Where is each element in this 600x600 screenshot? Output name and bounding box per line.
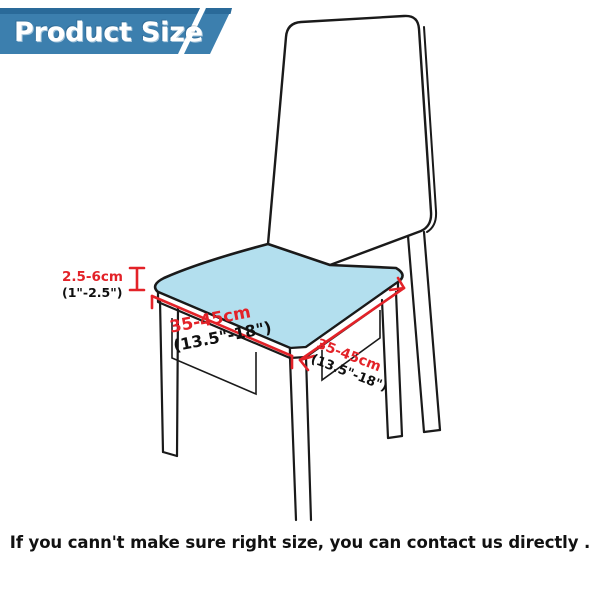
leg-rear-right-line-a (424, 232, 440, 430)
thickness-i-bar (130, 268, 144, 290)
thickness-value-cm: 2.5-6cm (62, 270, 123, 286)
dimension-label-thickness: 2.5-6cm (1"-2.5") (62, 270, 123, 301)
product-size-infographic: Product Size (0, 0, 600, 600)
footer-caption: If you cann't make sure right size, you … (0, 533, 600, 552)
chair-back (268, 16, 436, 265)
chair-back-panel (268, 16, 431, 265)
dimension-thickness-marker (130, 268, 144, 290)
chair-illustration (0, 0, 600, 530)
chair-leg-front-center (290, 357, 311, 520)
leg-front-right-line-a (396, 292, 402, 436)
leg-rear-right-line-b (408, 236, 424, 432)
chair-leg-rear-right (408, 232, 440, 432)
thickness-value-inch: (1"-2.5") (62, 286, 123, 301)
leg-front-center-line-a (290, 358, 296, 520)
leg-front-center-line-b (306, 357, 311, 520)
leg-rear-right-foot (424, 430, 440, 432)
leg-front-left-foot (163, 452, 177, 456)
leg-front-left-line-a (160, 300, 163, 452)
leg-front-right-foot (388, 436, 402, 438)
